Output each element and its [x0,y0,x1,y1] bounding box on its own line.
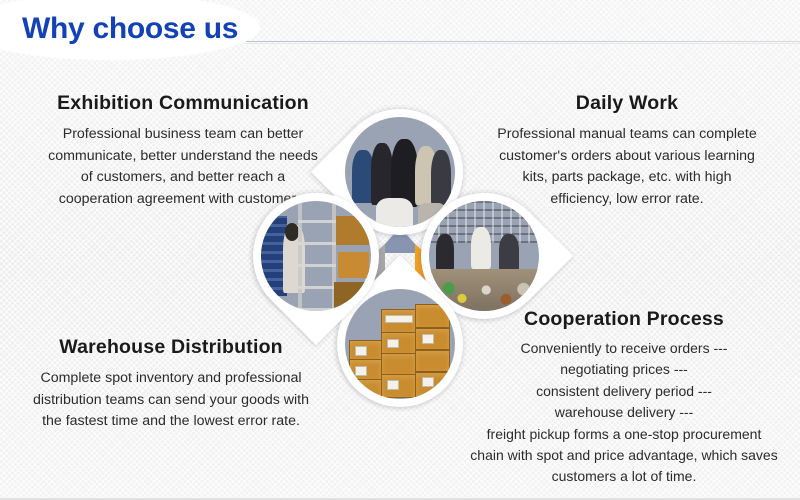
body-line: customers a lot of time. [452,466,796,487]
header: Why choose us [0,0,800,64]
warehouse-aisle-shelving-photo [261,201,371,311]
page-title: Why choose us [22,12,238,46]
why-choose-us-poster: Why choose us Exhibition Communication P… [0,0,800,500]
header-divider-rule [246,41,800,42]
body-line: chain with spot and price advantage, whi… [452,445,796,466]
pinwheel-graphic [243,103,557,437]
header-divider-rule-secondary [246,43,800,44]
assembly-workers-parts-photo [429,201,539,311]
